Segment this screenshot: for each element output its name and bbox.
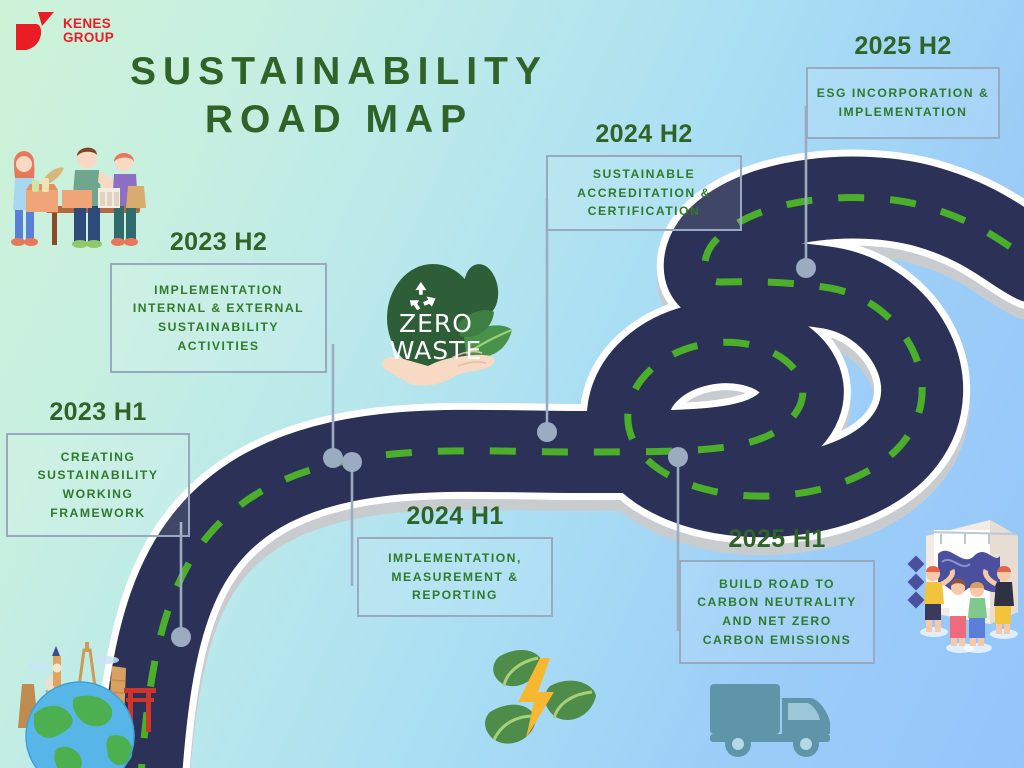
logo-wordmark: KENES GROUP bbox=[63, 17, 114, 45]
milestone-text-2025-h2: ESG INCORPORATION & IMPLEMENTATION bbox=[806, 67, 1000, 139]
kenes-logo-mark bbox=[14, 10, 56, 52]
pin-2025-h2 bbox=[796, 258, 816, 278]
pin-2025-h1 bbox=[668, 447, 688, 467]
zero-waste-line-1: ZERO bbox=[399, 309, 473, 338]
globe-landmarks-illustration bbox=[0, 632, 160, 768]
title-line-1: SUSTAINABILITY bbox=[130, 50, 548, 93]
title-line-2: ROAD MAP bbox=[104, 96, 574, 144]
sustainability-roadmap-infographic: KENES GROUP SUSTAINABILITY ROAD MAP 2023… bbox=[0, 0, 1024, 768]
milestone-2025-h2[interactable]: 2025 H2 ESG INCORPORATION & IMPLEMENTATI… bbox=[806, 32, 1000, 139]
milestone-2023-h1[interactable]: 2023 H1 CREATING SUSTAINABILITY WORKING … bbox=[6, 398, 190, 537]
logo-line-1: KENES bbox=[63, 17, 114, 31]
zero-waste-badge: ZERO WASTE bbox=[366, 258, 536, 398]
milestone-2024-h1[interactable]: 2024 H1 IMPLEMENTATION, MEASUREMENT & RE… bbox=[357, 502, 553, 617]
pin-2024-h1 bbox=[342, 452, 362, 472]
kenes-group-logo[interactable]: KENES GROUP bbox=[14, 10, 114, 52]
page-title: SUSTAINABILITY ROAD MAP bbox=[104, 48, 574, 143]
milestone-text-2023-h2: IMPLEMENTATION INTERNAL & EXTERNAL SUSTA… bbox=[110, 263, 327, 373]
milestone-text-2024-h2: SUSTAINABLE ACCREDITATION & CERTIFICATIO… bbox=[546, 155, 742, 231]
milestone-year-2024-h2: 2024 H2 bbox=[546, 120, 742, 149]
milestone-2025-h1[interactable]: 2025 H1 BUILD ROAD TO CARBON NEUTRALITY … bbox=[679, 525, 875, 664]
logo-line-2: GROUP bbox=[63, 31, 114, 45]
milestone-year-2023-h1: 2023 H1 bbox=[6, 398, 190, 427]
milestone-text-2023-h1: CREATING SUSTAINABILITY WORKING FRAMEWOR… bbox=[6, 433, 190, 537]
people-market-stall-illustration bbox=[2, 138, 162, 250]
zero-waste-line-2: WASTE bbox=[390, 336, 482, 365]
pin-2024-h2 bbox=[537, 422, 557, 442]
delivery-truck-icon bbox=[706, 676, 838, 762]
milestone-year-2024-h1: 2024 H1 bbox=[357, 502, 553, 531]
pin-2023-h2 bbox=[323, 448, 343, 468]
milestone-text-2025-h1: BUILD ROAD TO CARBON NEUTRALITY AND NET … bbox=[679, 560, 875, 664]
green-energy-leaf-lightning-icon bbox=[478, 640, 606, 758]
milestone-year-2025-h2: 2025 H2 bbox=[806, 32, 1000, 61]
zero-waste-label: ZERO WASTE bbox=[388, 310, 484, 364]
pin-2023-h1 bbox=[171, 627, 191, 647]
milestone-year-2025-h1: 2025 H1 bbox=[679, 525, 875, 554]
milestone-text-2024-h1: IMPLEMENTATION, MEASUREMENT & REPORTING bbox=[357, 537, 553, 617]
exhibition-booth-people-illustration bbox=[890, 512, 1024, 662]
milestone-2024-h2[interactable]: 2024 H2 SUSTAINABLE ACCREDITATION & CERT… bbox=[546, 120, 742, 231]
